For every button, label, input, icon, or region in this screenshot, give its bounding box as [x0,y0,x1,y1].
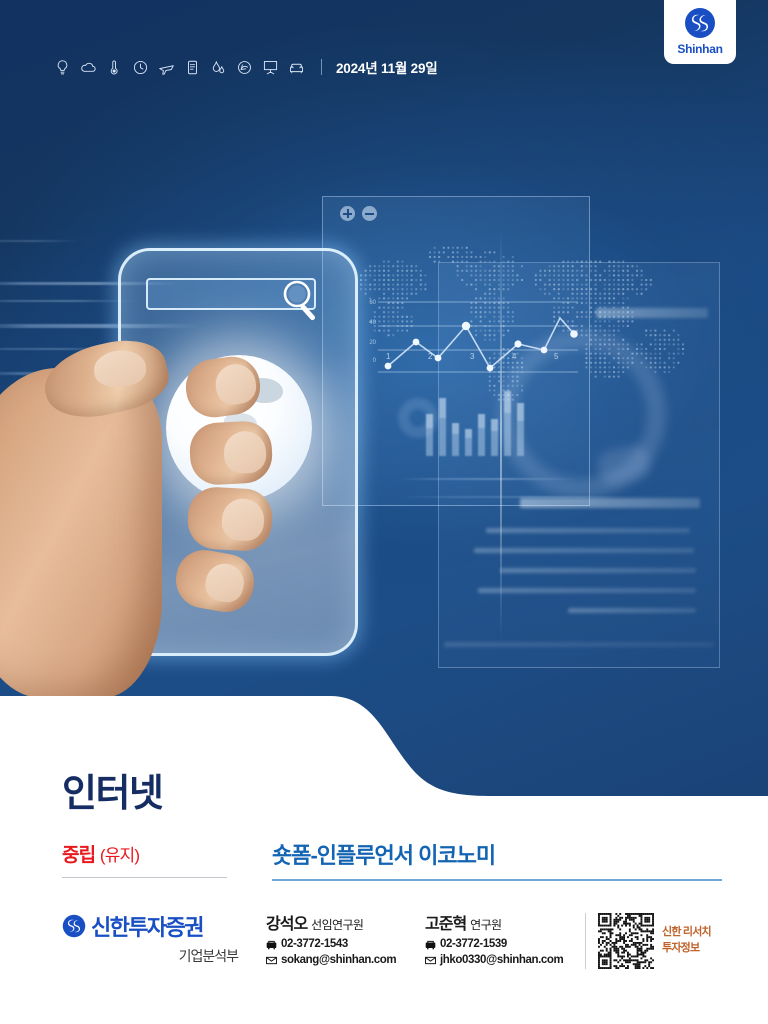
blurred-text-line [568,608,696,613]
analyst-name: 강석오 [266,916,307,933]
cloud-icon [80,59,97,76]
icon-strip [54,59,305,76]
analyst-email[interactable]: jhko0330@shinhan.com [440,954,563,966]
blurred-text-line [596,308,708,318]
department-name: 기업분석부 [62,946,242,966]
blurred-text-line [520,498,700,508]
page-title: 인터넷 [62,762,162,817]
analyst-role: 선임연구원 [311,918,363,932]
shinhan-logo-mark [684,7,716,39]
telephone-icon [266,939,277,950]
top-bar: 2024년 11월 29일 [0,50,768,84]
subtitle-block: 숏폼-인플루언서 이코노미 [272,838,722,881]
clock-icon [132,59,149,76]
plus-icon[interactable] [340,206,355,221]
footer: 신한투자증권 기업분석부 강석오선임연구원 02-3772-1543 [0,905,768,985]
vertical-light-line [500,230,502,640]
rating-note: (유지) [100,846,139,865]
envelope-icon [266,955,277,966]
report-date: 2024년 11월 29일 [336,57,437,77]
document-icon [184,59,201,76]
report-cover-page: 6040 200 12 34 5 [0,0,768,1024]
analyst-email[interactable]: sokang@shinhan.com [281,954,396,966]
axis-line [398,478,578,480]
line-chart-y-ticks: 6040 200 [358,300,376,360]
analyst-role: 연구원 [470,918,501,932]
light-streak [0,240,80,242]
blurred-text-line [444,642,714,647]
blurred-text-line [474,548,694,553]
lightbulb-icon [54,59,71,76]
analyst-name: 고준혁 [425,916,466,933]
finger [172,546,259,617]
qr-label: 신한 리서치 투자정보 [662,925,711,957]
thermometer-icon [106,59,123,76]
qr-block[interactable]: 신한 리서치 투자정보 [598,913,711,969]
shinhan-badge-name: Shinhan [677,42,722,56]
envelope-icon [425,955,436,966]
finger [182,353,263,421]
airplane-icon [158,59,175,76]
shinhan-badge: Shinhan [664,0,736,64]
company-name: 신한투자증권 [91,910,203,942]
minus-icon[interactable] [362,206,377,221]
report-subtitle: 숏폼-인플루언서 이코노미 [272,838,722,870]
sofa-icon [288,59,305,76]
recycle-icon [236,59,253,76]
rating-block: 중립 (유지) [62,840,227,878]
divider [321,59,322,75]
company-brand: 신한투자증권 기업분석부 [62,910,242,966]
blurred-text-line [478,588,696,593]
magnifier-icon [278,276,326,324]
droplet-icon [210,59,227,76]
blurred-text-line [500,568,696,573]
blurred-text-line [486,528,690,533]
analyst-phone: 02-3772-1539 [440,938,507,950]
rating-value: 중립 [62,845,95,866]
qr-label-line2: 투자정보 [662,941,711,957]
subtitle-rule [272,879,722,881]
finger [188,420,273,486]
presentation-icon [262,59,279,76]
finger [186,486,273,552]
shinhan-logo-mark [62,914,86,938]
analyst-phone: 02-3772-1543 [281,938,348,950]
bar-chart [426,388,536,456]
analyst-card: 강석오선임연구원 02-3772-1543 sokang@shinhan.com [266,910,396,966]
qr-label-line1: 신한 리서치 [662,925,711,941]
qr-code-icon[interactable] [598,913,654,969]
telephone-icon [425,939,436,950]
line-chart-x-ticks: 12 34 5 [378,352,578,368]
rating-rule [62,877,227,878]
hero-banner: 6040 200 12 34 5 [0,0,768,810]
footer-divider [585,913,586,969]
analyst-card: 고준혁연구원 02-3772-1539 jhko0330@shinhan.com [425,910,563,966]
hand-holding-phone [0,330,320,730]
palm [0,368,162,698]
